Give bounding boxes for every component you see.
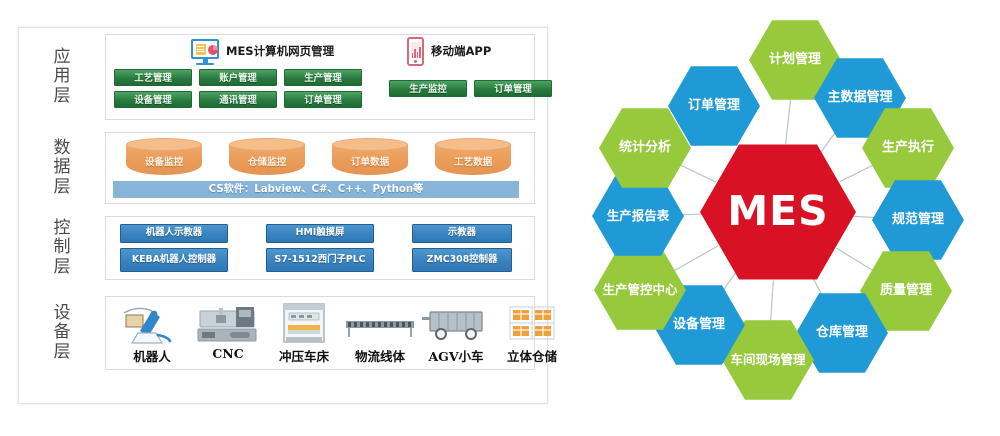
equipment-item-warehouse: 立体仓储 [490, 301, 574, 365]
db-label: 设备监控 [126, 154, 202, 168]
layer-label-equipment: 设 备 层 [19, 296, 105, 370]
layer-char: 应 [54, 48, 71, 67]
db-cylinder-equipment-monitor: 设备监控 [126, 138, 202, 178]
data-layer-body: 设备监控 仓储监控 订单数据 工艺数据 CS软件：Labview、C#、C++、… [105, 132, 535, 204]
app-button-production-mgmt[interactable]: 生产管理 [284, 69, 362, 86]
db-label: 仓储监控 [229, 154, 305, 168]
layered-architecture-panel: 应 用 层 MES计算机网页管理 [18, 27, 548, 404]
equipment-label: 机器人 [110, 346, 194, 365]
layer-char: 据 [54, 158, 71, 177]
app-button-order-mgmt-mobile[interactable]: 订单管理 [474, 80, 552, 97]
hex-center-label: MES [700, 184, 856, 240]
wheel-spoke [770, 280, 773, 323]
layer-equipment: 设 备 层 [19, 296, 547, 370]
equipment-item-cnc: CNC [186, 301, 270, 361]
conveyor-line-icon [338, 301, 422, 345]
equipment-item-conveyor: 物流线体 [338, 301, 422, 365]
layer-label-application: 应 用 层 [19, 34, 105, 120]
mobile-phone-icon [407, 37, 424, 66]
ctl-button-keba-robot-controller[interactable]: KEBA机器人控制器 [120, 248, 228, 272]
cs-software-bar: CS软件：Labview、C#、C++、Python等 [113, 181, 519, 198]
hex-node-label: 主数据管理 [814, 69, 906, 126]
db-label: 订单数据 [332, 154, 408, 168]
layer-char: 数 [54, 139, 71, 158]
layer-control: 控 制 层 机器人示教器 HMI触摸屏 示教器 KEBA机器人控制器 S7-15… [19, 216, 547, 280]
layer-char: 层 [54, 258, 71, 277]
app-button-account-mgmt[interactable]: 账户管理 [199, 69, 277, 86]
db-cylinder-order-data: 订单数据 [332, 138, 408, 178]
wheel-spoke [786, 97, 791, 144]
control-layer-body: 机器人示教器 HMI触摸屏 示教器 KEBA机器人控制器 S7-1512西门子P… [105, 216, 535, 280]
equipment-label: AGV小车 [414, 346, 498, 365]
equipment-label: CNC [186, 346, 270, 361]
agv-cart-icon [414, 301, 498, 345]
layer-char: 控 [54, 219, 71, 238]
hex-node-label: 生产执行 [862, 119, 954, 176]
layer-char: 设 [54, 304, 71, 323]
monitor-icon [191, 39, 219, 65]
db-cylinder-craft-data: 工艺数据 [435, 138, 511, 178]
equipment-label: 冲压车床 [262, 346, 346, 365]
equipment-layer-body: 机器人 [105, 296, 535, 370]
db-cylinder-warehouse-monitor: 仓储监控 [229, 138, 305, 178]
stamping-press-icon [262, 301, 346, 345]
mes-web-title: MES计算机网页管理 [226, 43, 334, 59]
layer-label-control: 控 制 层 [19, 216, 105, 280]
app-button-equipment-mgmt[interactable]: 设备管理 [114, 91, 192, 108]
layer-label-data: 数 据 层 [19, 132, 105, 204]
layer-char: 层 [54, 343, 71, 362]
hex-node-label: 生产报告表 [592, 187, 684, 244]
app-button-craft-mgmt[interactable]: 工艺管理 [114, 69, 192, 86]
db-label: 工艺数据 [435, 154, 511, 168]
app-button-order-mgmt[interactable]: 订单管理 [284, 91, 362, 108]
application-layer-body: MES计算机网页管理 移动端APP 工艺管理 账户管理 生产管理 设备管理 通讯… [105, 34, 535, 120]
architecture-diagram-page: 应 用 层 MES计算机网页管理 [0, 0, 1000, 436]
mes-hexagon-wheel: 计划管理主数据管理生产执行规范管理质量管理仓库管理车间现场管理设备管理生产管控中… [588, 8, 1000, 428]
ctl-button-robot-teach-pendant[interactable]: 机器人示教器 [120, 224, 228, 243]
hex-node-label: 生产管控中心 [594, 261, 686, 318]
layer-char: 制 [54, 238, 71, 257]
layer-data: 数 据 层 设备监控 仓储监控 订单数据 [19, 132, 547, 204]
equipment-item-agv: AGV小车 [414, 301, 498, 365]
equipment-label: 立体仓储 [490, 346, 574, 365]
robot-arm-icon [110, 301, 194, 345]
warehouse-rack-icon [490, 301, 574, 345]
application-header: MES计算机网页管理 移动端APP [106, 35, 534, 69]
app-button-production-monitor[interactable]: 生产监控 [389, 80, 467, 97]
layer-char: 层 [54, 87, 71, 106]
ctl-button-hmi-touchscreen[interactable]: HMI触摸屏 [266, 224, 374, 243]
ctl-button-siemens-plc[interactable]: S7-1512西门子PLC [266, 248, 374, 272]
equipment-item-robot: 机器人 [110, 301, 194, 365]
layer-char: 备 [54, 323, 71, 342]
ctl-button-teach-pendant[interactable]: 示教器 [412, 224, 512, 243]
cnc-machine-icon [186, 301, 270, 345]
equipment-label: 物流线体 [338, 346, 422, 365]
layer-char: 用 [54, 67, 71, 86]
ctl-button-zmc308-controller[interactable]: ZMC308控制器 [412, 248, 512, 272]
hex-node-label: 规范管理 [872, 191, 964, 248]
equipment-item-stamping-press: 冲压车床 [262, 301, 346, 365]
layer-char: 层 [54, 178, 71, 197]
mobile-app-title: 移动端APP [431, 43, 491, 59]
hex-node-label: 订单管理 [668, 77, 760, 134]
layer-application: 应 用 层 MES计算机网页管理 [19, 34, 547, 120]
app-button-comm-mgmt[interactable]: 通讯管理 [199, 91, 277, 108]
